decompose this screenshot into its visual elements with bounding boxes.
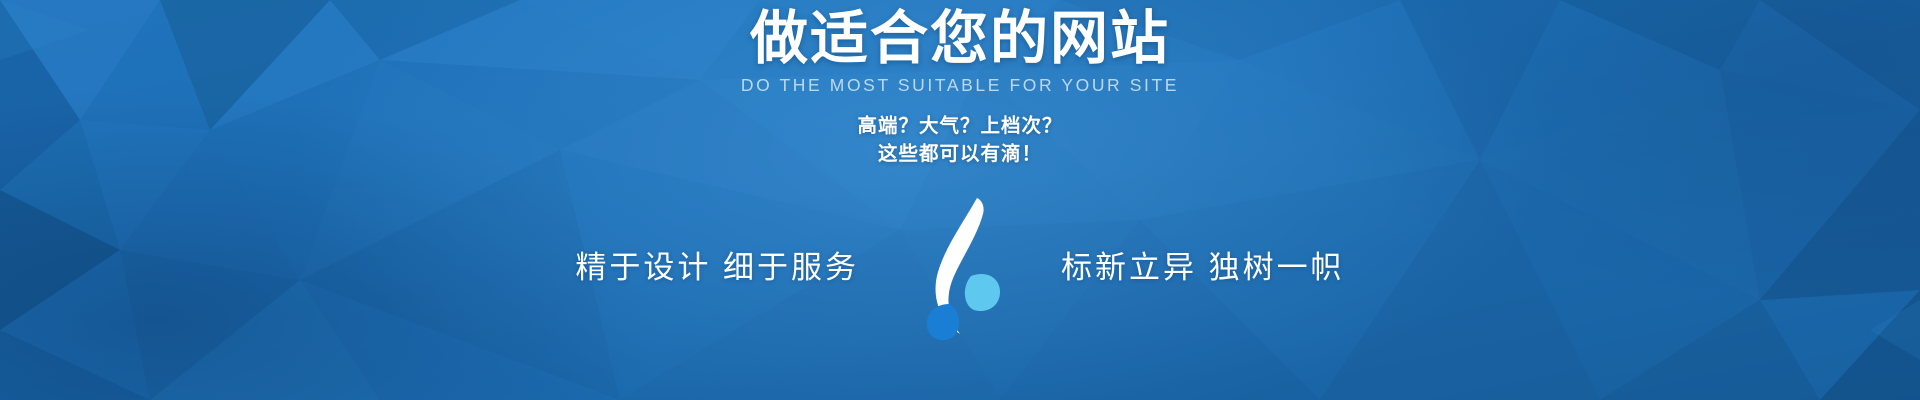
tagline-row: 精于设计 细于服务 标新立异 独树一帜 — [0, 186, 1920, 342]
tagline-left: 精于设计 细于服务 — [559, 242, 859, 287]
slogan-line-1: 高端？大气？上档次？ — [857, 112, 1062, 140]
slogan-line-2: 这些都可以有滴！ — [857, 140, 1062, 168]
banner-content: 做适合您的网站 DO THE MOST SUITABLE FOR YOUR SI… — [0, 0, 1920, 400]
hero-banner: 做适合您的网站 DO THE MOST SUITABLE FOR YOUR SI… — [0, 0, 1920, 400]
page-title: 做适合您的网站 — [750, 8, 1170, 71]
tagline-right: 标新立异 独树一帜 — [1061, 242, 1361, 287]
water-drop-swoosh-logo — [905, 192, 1015, 342]
subtitle-english: DO THE MOST SUITABLE FOR YOUR SITE — [741, 75, 1179, 96]
slogan-block: 高端？大气？上档次？ 这些都可以有滴！ — [857, 112, 1062, 169]
